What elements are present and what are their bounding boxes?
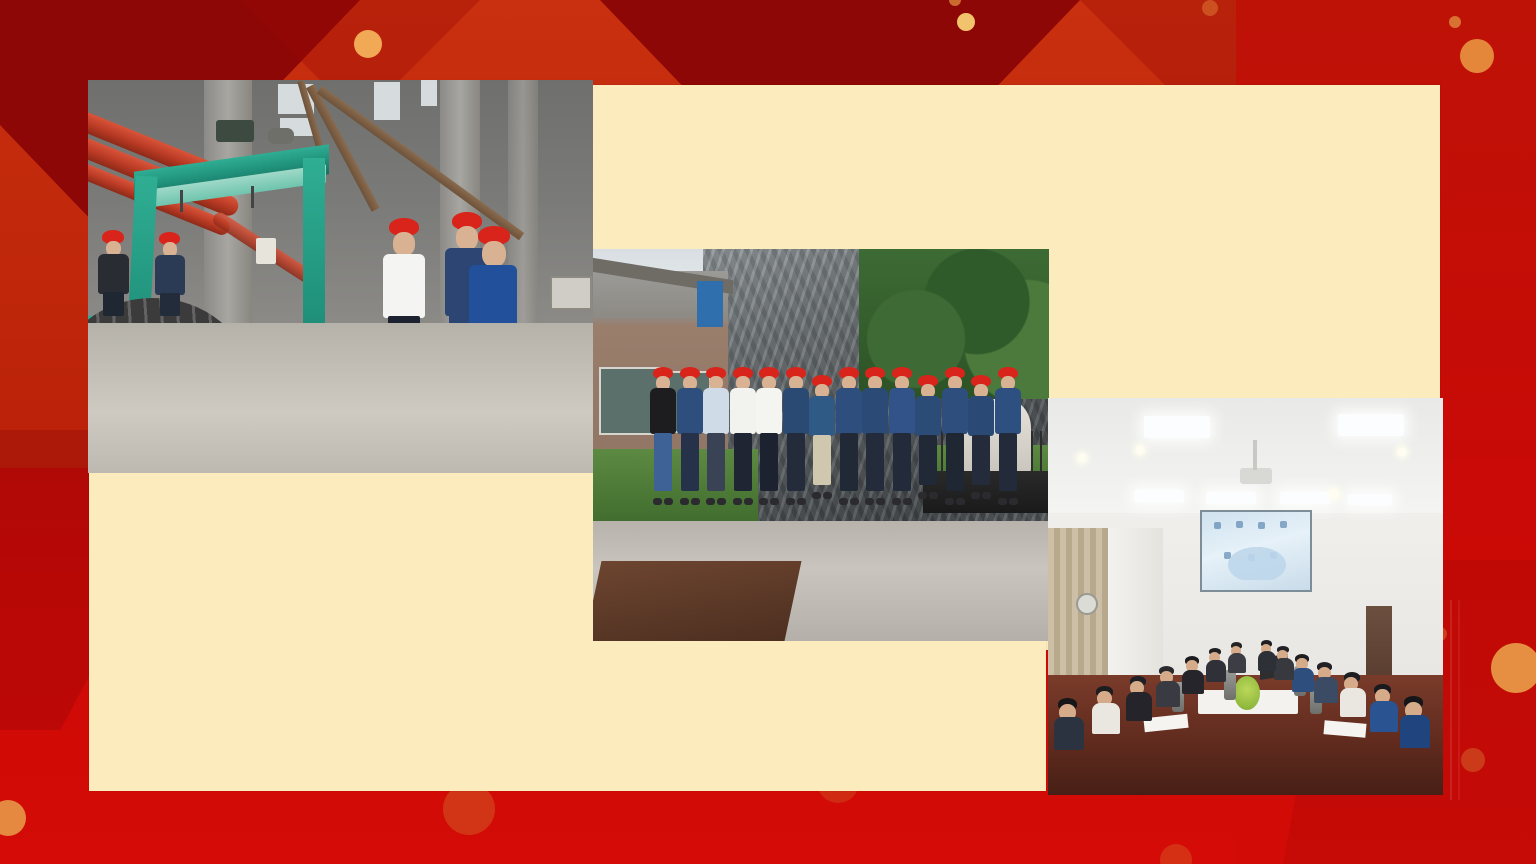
attendee-torso — [1206, 660, 1226, 682]
worker-shoe-left — [706, 498, 715, 505]
decor-circle-7 — [1491, 643, 1536, 693]
decor-circle-1 — [354, 30, 382, 58]
ceiling-panel-light-1 — [1144, 416, 1210, 438]
attendee-torso — [1092, 703, 1120, 734]
worker-shoe-right — [744, 498, 753, 505]
meeting-attendee-right-6 — [1274, 646, 1294, 684]
decor-circle-5 — [1202, 0, 1218, 16]
attendee-torso — [1228, 653, 1246, 673]
plant-notice-board — [550, 276, 592, 310]
worker-shoe-right — [876, 498, 885, 505]
worker-torso — [677, 388, 703, 434]
ceiling-panel-light-4 — [1206, 492, 1256, 504]
plant-worker-bg-1 — [96, 230, 132, 316]
building-sign-board — [697, 281, 723, 327]
meeting-attendee-left-6 — [1206, 648, 1226, 686]
plant-floor — [88, 323, 593, 473]
downlight-1 — [1078, 454, 1086, 462]
worker-legs — [866, 433, 884, 491]
worker-shoe-right — [691, 498, 700, 505]
group-worker-12 — [942, 367, 968, 507]
meeting-attendee-left-7 — [1228, 642, 1246, 676]
group-worker-3 — [703, 367, 729, 507]
worker-shoe-left — [971, 492, 980, 499]
worker-torso — [968, 396, 994, 436]
group-worker-7 — [809, 375, 835, 501]
meeting-attendee-left-3 — [1126, 676, 1152, 725]
worker-torso — [155, 255, 185, 295]
worker-legs — [103, 292, 124, 316]
worker-torso — [783, 388, 809, 434]
worker-shoe-right — [664, 498, 673, 505]
worker-torso — [836, 388, 862, 434]
worker-legs — [999, 433, 1017, 491]
group-worker-6 — [783, 367, 809, 507]
visitor-head — [393, 232, 415, 256]
worker-legs — [813, 435, 831, 485]
plant-window-3 — [374, 82, 400, 120]
background-seam-a — [1450, 600, 1452, 800]
worker-legs — [654, 433, 672, 491]
worker-torso — [942, 388, 968, 434]
meeting-attendee-left-2 — [1092, 686, 1120, 739]
worker-shoe-right — [929, 492, 938, 499]
ceiling-panel-light-6 — [1348, 494, 1392, 505]
worker-shoe-right — [903, 498, 912, 505]
meeting-attendee-right-7 — [1258, 640, 1276, 674]
worker-shoe-right — [982, 492, 991, 499]
plant-worker-bg-2 — [154, 232, 188, 316]
visitor-torso — [383, 254, 425, 318]
worker-shoe-right — [956, 498, 965, 505]
worker-torso — [889, 388, 915, 434]
decor-circle-4 — [1460, 39, 1494, 73]
attendee-torso — [1258, 651, 1276, 671]
decor-circle-2 — [957, 13, 975, 31]
attendee-torso — [1274, 658, 1294, 680]
meeting-attendee-right-4 — [1314, 662, 1338, 708]
worker-torso — [995, 388, 1021, 434]
worker-legs — [919, 435, 937, 485]
group-worker-13 — [968, 375, 994, 501]
worker-shoe-left — [812, 492, 821, 499]
group-worker-5 — [756, 367, 782, 507]
worker-shoe-right — [797, 498, 806, 505]
worker-torso — [862, 388, 888, 434]
worker-shoe-right — [850, 498, 859, 505]
worker-legs — [760, 433, 778, 491]
visitor-head — [482, 241, 506, 267]
worker-shoe-right — [717, 498, 726, 505]
attendee-torso — [1292, 668, 1314, 692]
worker-torso — [98, 254, 129, 294]
worker-shoe-left — [945, 498, 954, 505]
slide-canvas — [0, 0, 1536, 864]
worker-shoe-left — [865, 498, 874, 505]
worker-shoe-left — [918, 492, 927, 499]
attendee-torso — [1156, 681, 1180, 707]
worker-torso — [915, 396, 941, 436]
group-worker-2 — [677, 367, 703, 507]
worker-torso — [730, 388, 756, 434]
group-worker-8 — [836, 367, 862, 507]
group-worker-10 — [889, 367, 915, 507]
ceiling-panel-light-5 — [1280, 492, 1330, 504]
attendee-torso — [1126, 692, 1152, 721]
meeting-attendee-left-4 — [1156, 666, 1180, 712]
worker-legs — [681, 433, 699, 491]
screen-icon-2 — [1236, 521, 1243, 528]
worker-torso — [756, 388, 782, 434]
worker-torso — [703, 388, 729, 434]
worker-legs — [734, 433, 752, 491]
attendee-torso — [1314, 677, 1338, 703]
worker-shoe-left — [733, 498, 742, 505]
worker-legs — [972, 435, 990, 485]
decor-circle-3 — [1449, 16, 1461, 28]
meeting-attendee-right-1 — [1400, 696, 1430, 753]
meeting-attendee-right-2 — [1370, 684, 1398, 737]
background-seam-b — [1458, 600, 1460, 800]
worker-legs — [946, 433, 964, 491]
attendee-torso — [1054, 717, 1084, 750]
worker-shoe-left — [759, 498, 768, 505]
worker-legs — [787, 433, 805, 491]
plant-lamp — [268, 128, 294, 144]
group-worker-4 — [730, 367, 756, 507]
plant-motor-box — [216, 120, 254, 142]
group-worker-1 — [650, 367, 676, 507]
steel-plate — [593, 561, 802, 641]
plant-bucket — [256, 238, 276, 264]
downlight-3 — [1398, 448, 1406, 456]
plant-window-4 — [421, 80, 437, 106]
attendee-torso — [1182, 670, 1204, 694]
ceiling-panel-light-2 — [1338, 414, 1404, 436]
plant-hook-2 — [251, 186, 254, 208]
worker-shoe-right — [823, 492, 832, 499]
projection-screen — [1200, 510, 1312, 592]
worker-legs — [893, 433, 911, 491]
downlight-4 — [1330, 490, 1338, 498]
meeting-attendee-right-3 — [1340, 672, 1366, 721]
meeting-attendee-right-5 — [1292, 654, 1314, 696]
screen-icon-3 — [1258, 522, 1265, 529]
worker-shoe-right — [1009, 498, 1018, 505]
screen-icon-1 — [1214, 522, 1221, 529]
photo-industrial-plant[interactable] — [88, 80, 593, 473]
worker-shoe-left — [653, 498, 662, 505]
attendee-torso — [1340, 688, 1366, 717]
screen-icon-4 — [1280, 521, 1287, 528]
screen-map-graphic — [1220, 542, 1294, 580]
meeting-attendee-left-5 — [1182, 656, 1204, 698]
meeting-attendee-left-1 — [1054, 698, 1084, 755]
ceiling-panel-light-3 — [1134, 490, 1184, 502]
worker-legs — [707, 433, 725, 491]
photo-group-rock-face[interactable] — [593, 249, 1049, 641]
projector-mount — [1253, 440, 1257, 470]
worker-shoe-left — [892, 498, 901, 505]
worker-shoe-left — [680, 498, 689, 505]
attendee-torso — [1400, 715, 1430, 748]
worker-shoe-right — [770, 498, 779, 505]
group-worker-11 — [915, 375, 941, 501]
worker-torso — [809, 396, 835, 436]
worker-legs — [840, 433, 858, 491]
worker-torso — [650, 388, 676, 434]
downlight-2 — [1136, 446, 1144, 454]
worker-shoe-left — [998, 498, 1007, 505]
decor-circle-8 — [1461, 748, 1485, 772]
attendee-torso — [1370, 701, 1398, 732]
group-worker-9 — [862, 367, 888, 507]
worker-legs — [160, 293, 180, 316]
group-worker-14 — [995, 367, 1021, 507]
plant-hook-1 — [180, 190, 183, 212]
worker-shoe-left — [839, 498, 848, 505]
table-centerpiece-plant — [1234, 676, 1260, 710]
photo-conference-meeting[interactable] — [1048, 398, 1443, 795]
ceiling-projector — [1240, 468, 1272, 484]
wall-clock — [1076, 593, 1098, 615]
worker-shoe-left — [786, 498, 795, 505]
